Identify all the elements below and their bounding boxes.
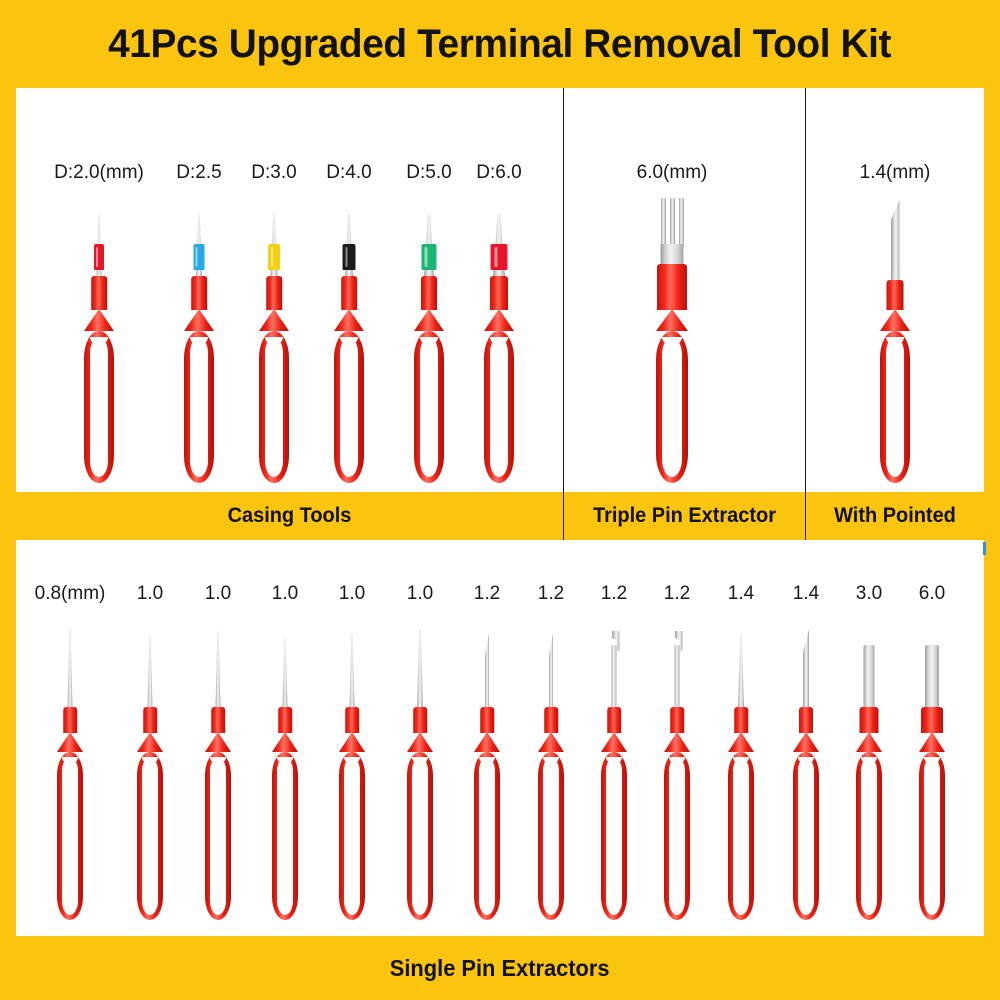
handle-shoulder: [728, 732, 754, 752]
bottom-panel: 0.8(mm)1.01.01.01.01.01.21.21.21.21.41.4…: [16, 540, 984, 936]
tool-shaft: [283, 637, 288, 707]
tool-size-label: 1.0: [272, 584, 298, 603]
handle-loop-hole: [606, 757, 622, 915]
tool-shaft: [738, 633, 744, 707]
collar-highlight: [494, 247, 497, 267]
tool-illustration: [181, 633, 255, 921]
tool-illustration: [248, 633, 322, 921]
tool-shaft: [661, 244, 684, 265]
tool-illustration: [450, 633, 524, 921]
tool-size-label: D:4.0: [326, 163, 371, 182]
collar-highlight: [271, 247, 273, 267]
handle-shoulder: [880, 309, 910, 331]
handle-loop-hole: [340, 337, 358, 477]
handle-loop-hole: [490, 337, 508, 477]
handle-shoulder: [601, 732, 627, 752]
handle-neck: [345, 707, 359, 733]
tool-shaft: [925, 645, 939, 707]
color-collar: [94, 244, 104, 270]
tool-shaft: [68, 629, 73, 707]
handle-neck: [670, 707, 684, 733]
tool-size-label: 1.4: [793, 584, 819, 603]
tool-shaft: [148, 635, 153, 707]
handle-neck: [887, 280, 904, 310]
handle-neck: [657, 264, 687, 310]
handle-shoulder: [205, 732, 231, 752]
tool-size-label: 1.2: [601, 584, 627, 603]
handle-shoulder: [656, 309, 688, 331]
collar-highlight: [425, 247, 428, 267]
tool-item[interactable]: 1.0: [315, 584, 389, 921]
tool-shaft: [675, 645, 680, 707]
top-panel: D:2.0(mm)D:2.5D:3.0D:4.0D:5.0D:6.0 6.0(m…: [16, 88, 984, 492]
blue-marker-icon: [983, 542, 986, 555]
title-bar: 41Pcs Upgraded Terminal Removal Tool Kit: [0, 0, 1000, 88]
tool-item[interactable]: 1.4: [704, 584, 778, 921]
tool-item[interactable]: 6.0(mm): [602, 163, 742, 484]
tool-illustration: [45, 216, 153, 484]
tool-size-label: 1.0: [407, 584, 433, 603]
tool-illustration: [113, 633, 187, 921]
tool-item[interactable]: 1.0: [248, 584, 322, 921]
tool-illustration: [445, 216, 553, 484]
tool-shaft: [417, 629, 423, 707]
tool-size-label: D:6.0: [476, 163, 521, 182]
handle-shoulder: [259, 309, 289, 331]
tool-item[interactable]: 1.0: [383, 584, 457, 921]
handle-loop-hole: [277, 757, 293, 915]
blade-tip: [549, 633, 553, 707]
color-collar: [194, 244, 205, 270]
tool-item[interactable]: 0.8(mm): [33, 584, 107, 921]
caption-with-pointed: With Pointed: [810, 492, 979, 540]
handle-loop-hole: [861, 757, 877, 915]
handle-loop-hole: [210, 757, 226, 915]
handle-shoulder: [856, 732, 882, 752]
tool-illustration: [704, 633, 778, 921]
blade-tip: [485, 633, 489, 707]
tool-size-label: 1.0: [137, 584, 163, 603]
tool-item[interactable]: 1.4(mm): [825, 163, 965, 484]
tool-item[interactable]: D:6.0: [445, 163, 553, 484]
handle-loop-hole: [62, 757, 78, 915]
mid-caption-band: Casing Tools Triple Pin Extractor With P…: [0, 492, 1000, 540]
panel-divider-1: [563, 88, 564, 492]
handle-neck: [278, 707, 292, 733]
page-title: 41Pcs Upgraded Terminal Removal Tool Kit: [109, 22, 892, 67]
handle-loop-hole: [190, 337, 208, 477]
handle-loop-hole: [886, 337, 904, 477]
tool-item[interactable]: 1.0: [113, 584, 187, 921]
handle-loop-hole: [669, 757, 685, 915]
handle-shoulder: [664, 732, 690, 752]
handle-shoulder: [84, 309, 114, 331]
color-collar: [343, 244, 356, 270]
handle-neck: [860, 707, 879, 733]
collar-highlight: [196, 247, 198, 267]
tool-shaft: [350, 633, 355, 707]
handle-loop-hole: [479, 757, 495, 915]
prong: [679, 198, 684, 246]
handle-shoulder: [334, 309, 364, 331]
tool-size-label: 1.2: [538, 584, 564, 603]
collar-highlight: [345, 247, 347, 267]
tool-item[interactable]: 1.0: [181, 584, 255, 921]
handle-shoulder: [272, 732, 298, 752]
tool-size-label: D:2.0(mm): [54, 163, 144, 182]
handle-neck: [544, 707, 558, 733]
tool-size-label: D:3.0: [251, 163, 296, 182]
tool-size-label: D:2.5: [176, 163, 221, 182]
handle-loop-hole: [142, 757, 158, 915]
tool-size-label: 6.0(mm): [637, 163, 708, 182]
collar-highlight: [96, 247, 98, 267]
tool-size-label: 3.0: [856, 584, 882, 603]
caption-casing-tools: Casing Tools: [30, 492, 550, 540]
handle-neck: [799, 707, 813, 733]
tool-illustration: [895, 633, 969, 921]
tool-illustration: [33, 633, 107, 921]
product-infographic: 41Pcs Upgraded Terminal Removal Tool Kit…: [0, 0, 1000, 1000]
panel-divider-2: [805, 88, 806, 492]
handle-shoulder: [793, 732, 819, 752]
tool-item[interactable]: D:2.0(mm): [45, 163, 153, 484]
handle-loop-hole: [412, 757, 428, 915]
blade-tip: [803, 629, 809, 707]
handle-neck: [341, 276, 357, 310]
band-divider-2: [805, 492, 806, 540]
tool-size-label: 1.0: [205, 584, 231, 603]
tool-shaft: [612, 645, 617, 707]
tool-size-label: 1.2: [474, 584, 500, 603]
color-collar: [422, 244, 437, 270]
handle-shoulder: [137, 732, 163, 752]
handle-shoulder: [407, 732, 433, 752]
caption-triple-pin: Triple Pin Extractor: [570, 492, 799, 540]
handle-neck: [413, 707, 427, 733]
tool-size-label: 6.0: [919, 584, 945, 603]
tool-size-label: 0.8(mm): [35, 584, 106, 603]
handle-neck: [921, 707, 943, 733]
handle-shoulder: [339, 732, 365, 752]
handle-loop-hole: [265, 337, 283, 477]
handle-loop-hole: [543, 757, 559, 915]
tool-item[interactable]: 1.2: [450, 584, 524, 921]
handle-loop-hole: [662, 337, 682, 477]
handle-shoulder: [57, 732, 83, 752]
color-collar: [268, 244, 280, 270]
tool-size-label: 1.4(mm): [860, 163, 931, 182]
handle-loop-hole: [924, 757, 940, 915]
handle-loop-hole: [798, 757, 814, 915]
handle-loop-hole: [90, 337, 108, 477]
handle-shoulder: [538, 732, 564, 752]
tool-illustration: [383, 633, 457, 921]
tool-shaft: [864, 645, 875, 707]
handle-neck: [211, 707, 225, 733]
tool-size-label: 1.0: [339, 584, 365, 603]
tool-illustration: [825, 216, 965, 484]
handle-neck: [490, 276, 508, 310]
prong: [670, 198, 675, 246]
handle-neck: [91, 276, 107, 310]
handle-shoulder: [184, 309, 214, 331]
handle-neck: [191, 276, 207, 310]
handle-neck: [143, 707, 157, 733]
handle-shoulder: [474, 732, 500, 752]
tool-size-label: 1.2: [664, 584, 690, 603]
handle-neck: [421, 276, 437, 310]
tool-illustration: [315, 633, 389, 921]
handle-loop-hole: [733, 757, 749, 915]
tool-illustration: [602, 216, 742, 484]
tool-illustration: [640, 633, 714, 921]
bottom-caption-band: Single Pin Extractors: [0, 936, 1000, 1000]
tool-shaft: [216, 631, 221, 707]
blade-tip: [891, 200, 900, 280]
tool-size-label: 1.4: [728, 584, 754, 603]
caption-single-pin-extractors: Single Pin Extractors: [390, 955, 610, 982]
handle-neck: [734, 707, 748, 733]
color-collar: [491, 244, 508, 270]
tool-item[interactable]: 6.0: [895, 584, 969, 921]
handle-loop-hole: [420, 337, 438, 477]
handle-neck: [480, 707, 494, 733]
band-divider-1: [563, 492, 564, 540]
tool-item[interactable]: 1.2: [640, 584, 714, 921]
handle-shoulder: [919, 732, 945, 752]
handle-shoulder: [484, 309, 514, 331]
handle-neck: [63, 707, 77, 733]
prong: [661, 198, 666, 246]
handle-neck: [607, 707, 621, 733]
handle-loop-hole: [344, 757, 360, 915]
handle-neck: [266, 276, 282, 310]
handle-shoulder: [414, 309, 444, 331]
